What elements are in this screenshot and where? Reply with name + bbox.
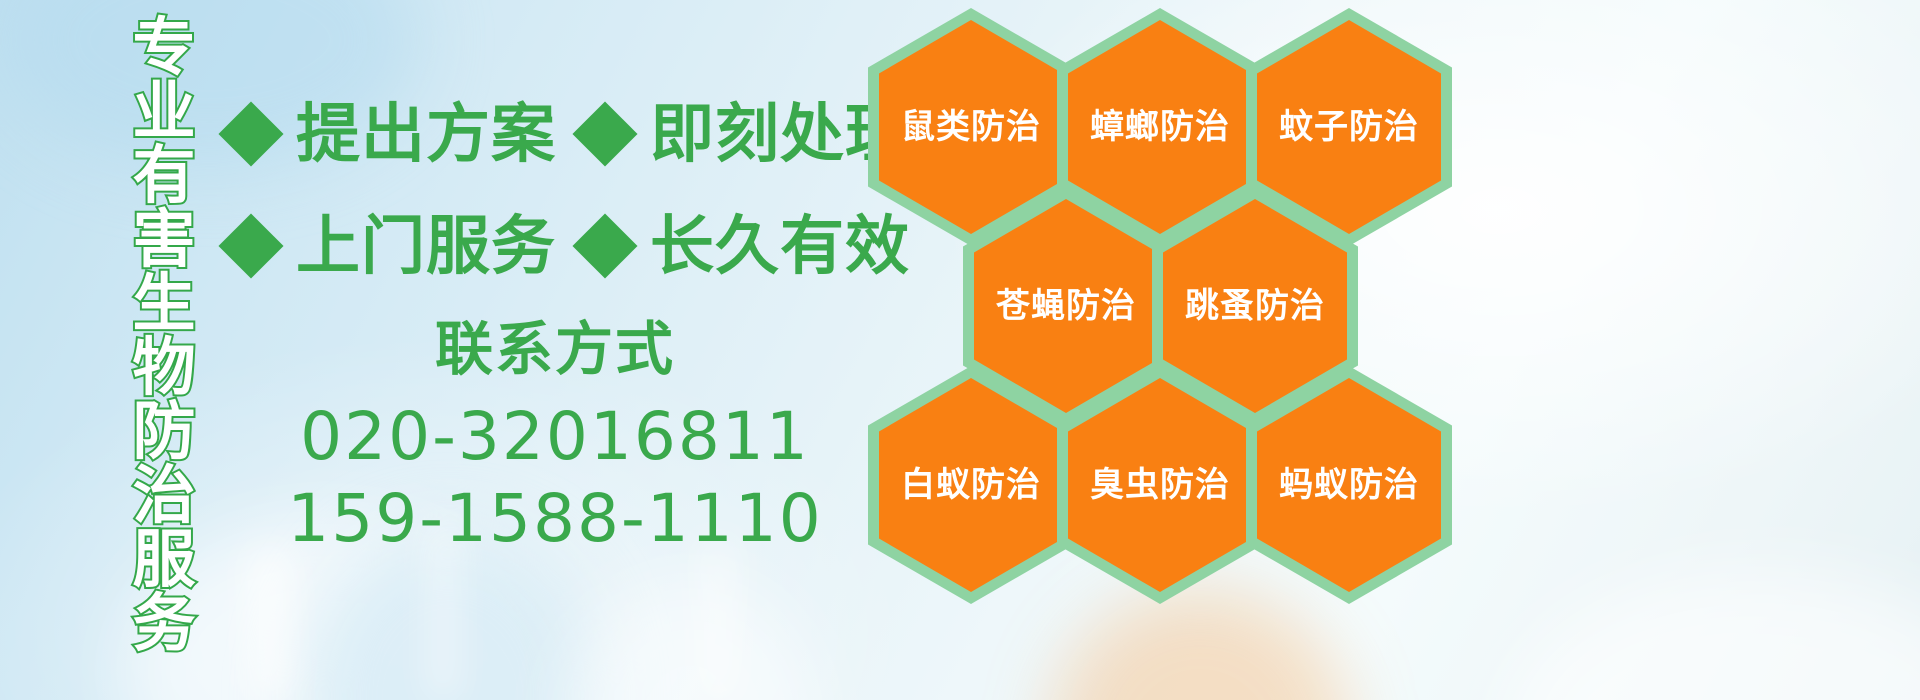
pest-control-banner: 专 业 有 害 生 物 防 治 服 务 提出方案 即刻处理 上门服务 <box>0 0 1920 700</box>
hex-label: 鼠类防治 <box>901 108 1041 146</box>
background-blur-blob <box>560 580 820 700</box>
background-light-streak <box>700 540 736 700</box>
feature-list: 提出方案 即刻处理 上门服务 长久有效 <box>228 78 868 302</box>
diamond-icon <box>218 101 283 166</box>
diamond-icon <box>572 213 637 278</box>
feature-label: 上门服务 <box>296 214 556 278</box>
background-light-streak <box>250 550 290 700</box>
vertical-headline-char: 治 <box>133 464 196 528</box>
feature-item-onsite-service: 上门服务 <box>228 214 556 278</box>
vertical-headline-char: 服 <box>133 528 196 592</box>
background-blur-blob <box>1500 570 1920 700</box>
vertical-headline-char: 有 <box>133 144 196 208</box>
feature-item-propose-plan: 提出方案 <box>228 102 556 166</box>
phone-mobile[interactable]: 159-1588-1110 <box>250 478 860 560</box>
vertical-headline-char: 生 <box>133 272 196 336</box>
hex-label: 蚊子防治 <box>1279 108 1419 146</box>
service-hexagon-grid: 鼠类防治 蟑螂防治 蚊子防治 苍蝇防治 跳蚤防治 白蚁防治 臭虫防治 <box>860 0 1480 700</box>
vertical-headline-char: 害 <box>133 208 196 272</box>
diamond-icon <box>218 213 283 278</box>
contact-block: 联系方式 020-32016811 159-1588-1110 <box>250 318 860 560</box>
vertical-headline-char: 务 <box>133 592 196 656</box>
vertical-headline-char: 专 <box>133 16 196 80</box>
hex-label: 白蚁防治 <box>901 466 1041 504</box>
contact-title: 联系方式 <box>250 318 860 382</box>
vertical-headline: 专 业 有 害 生 物 防 治 服 务 <box>112 16 216 676</box>
feature-row: 提出方案 即刻处理 <box>228 78 868 190</box>
phone-landline[interactable]: 020-32016811 <box>250 396 860 478</box>
hex-label: 蟑螂防治 <box>1090 108 1230 146</box>
feature-row: 上门服务 长久有效 <box>228 190 868 302</box>
hex-label: 跳蚤防治 <box>1185 287 1325 325</box>
vertical-headline-char: 防 <box>133 400 196 464</box>
hex-label: 臭虫防治 <box>1090 466 1230 504</box>
diamond-icon <box>572 101 637 166</box>
vertical-headline-char: 业 <box>133 80 196 144</box>
feature-label: 提出方案 <box>296 102 556 166</box>
hex-label: 苍蝇防治 <box>996 287 1136 325</box>
hex-label: 蚂蚁防治 <box>1279 466 1419 504</box>
vertical-headline-char: 物 <box>133 336 196 400</box>
